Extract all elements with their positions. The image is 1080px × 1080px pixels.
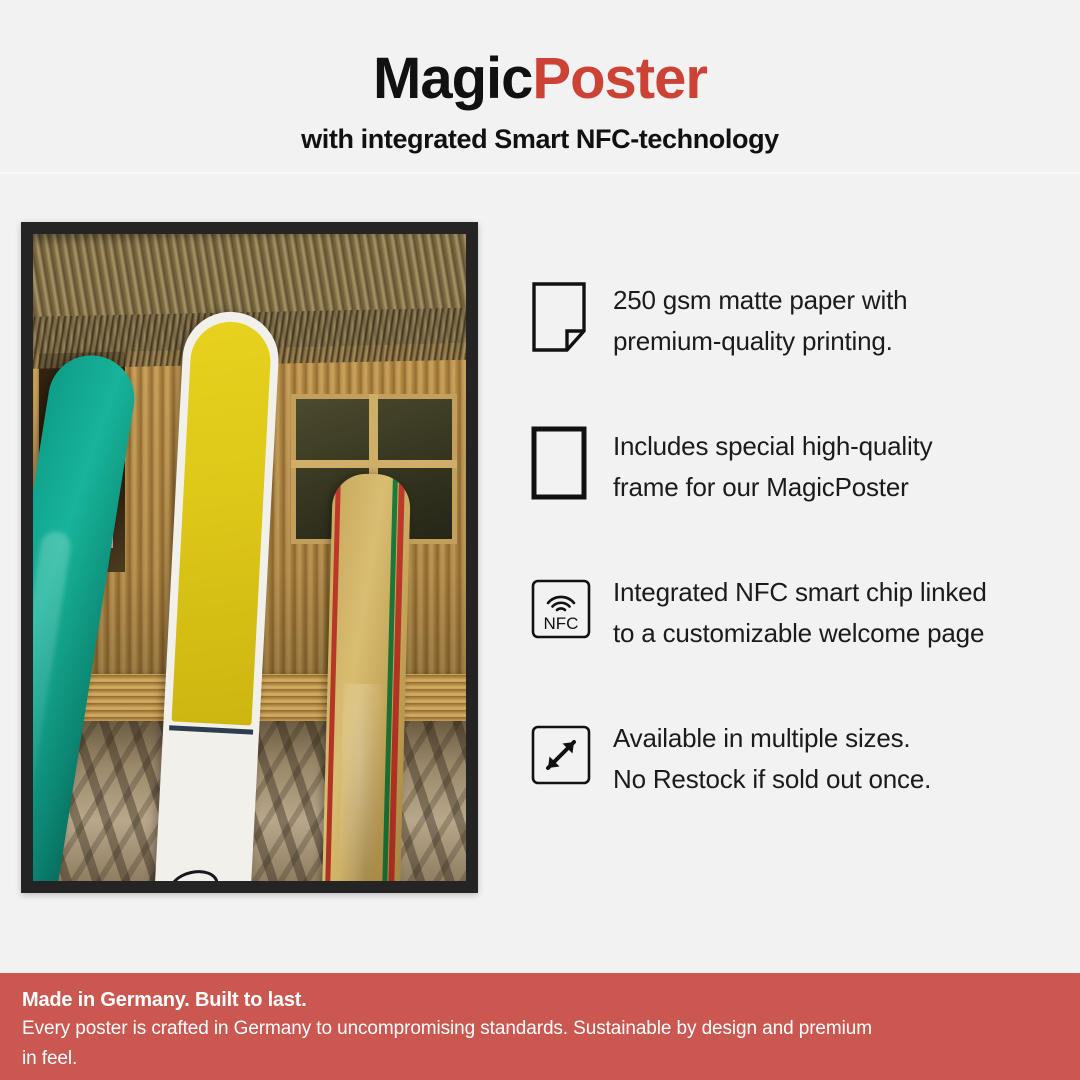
feature-line: 250 gsm matte paper with	[613, 280, 1065, 321]
feature-line: Includes special high-quality	[613, 426, 1065, 467]
surfboard-tan	[319, 473, 411, 881]
brand-name-accent: Poster	[532, 46, 707, 111]
feature-list: 250 gsm matte paper with premium-quality…	[525, 280, 1065, 864]
feature-text-paper: 250 gsm matte paper with premium-quality…	[595, 280, 1065, 362]
feature-text-frame: Includes special high-quality frame for …	[595, 426, 1065, 508]
page-title: MagicPoster	[0, 48, 1080, 110]
poster-photo	[33, 234, 466, 881]
feature-line: premium-quality printing.	[613, 321, 1065, 362]
surfboard-yellow-deck	[171, 320, 272, 726]
surfboard-tan-weathering	[337, 683, 388, 881]
feature-item-paper: 250 gsm matte paper with premium-quality…	[525, 280, 1065, 362]
nfc-icon: NFC	[525, 572, 595, 646]
brand-name-primary: Magic	[373, 46, 532, 111]
nfc-icon-label: NFC	[544, 614, 579, 633]
page-subtitle: with integrated Smart NFC-technology	[0, 124, 1080, 155]
feature-text-nfc: Integrated NFC smart chip linked to a cu…	[595, 572, 1065, 654]
feature-item-frame: Includes special high-quality frame for …	[525, 426, 1065, 508]
feature-line: Available in multiple sizes.	[613, 718, 1065, 759]
surfboard-leash-cord	[166, 866, 222, 881]
footer-body-line-1: Every poster is crafted in Germany to un…	[22, 1014, 1058, 1044]
feature-text-sizes: Available in multiple sizes. No Restock …	[595, 718, 1065, 800]
feature-line: Integrated NFC smart chip linked	[613, 572, 1065, 613]
surfboard-scene	[33, 234, 466, 881]
header: MagicPoster with integrated Smart NFC-te…	[0, 0, 1080, 173]
footer-banner: Made in Germany. Built to last. Every po…	[0, 973, 1080, 1080]
footer-body-line-2: in feel.	[22, 1044, 1058, 1074]
feature-line: No Restock if sold out once.	[613, 759, 1065, 800]
resize-diagonal-arrow-icon	[525, 718, 595, 792]
feature-line: to a customizable welcome page	[613, 613, 1065, 654]
product-feature-card: MagicPoster with integrated Smart NFC-te…	[0, 0, 1080, 1080]
feature-item-sizes: Available in multiple sizes. No Restock …	[525, 718, 1065, 800]
surfboard-yellow-pinline	[169, 725, 253, 734]
picture-frame-icon	[525, 426, 595, 500]
feature-item-nfc: NFC Integrated NFC smart chip linked to …	[525, 572, 1065, 654]
window-mullion-horizontal	[291, 460, 457, 468]
footer-heading: Made in Germany. Built to last.	[22, 986, 1058, 1014]
header-divider	[0, 172, 1080, 174]
feature-line: frame for our MagicPoster	[613, 467, 1065, 508]
poster-frame	[21, 222, 478, 893]
page-corner-fold-icon	[525, 280, 595, 354]
